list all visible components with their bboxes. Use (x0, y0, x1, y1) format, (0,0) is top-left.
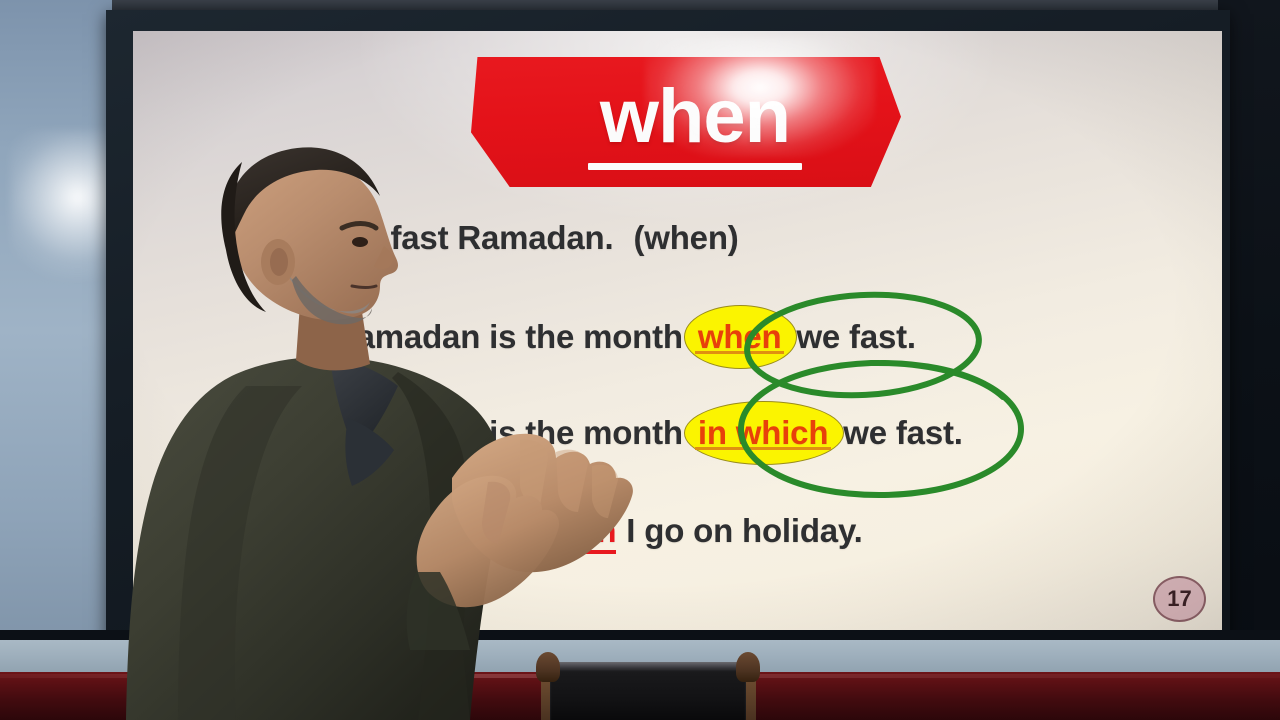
chair-finial-left (536, 652, 560, 682)
slide-line-3: Ramadan is the monthin whichwe fast. (333, 414, 963, 452)
line-4-after: I go on holiday. (626, 512, 862, 549)
line-4-keyword: when (533, 512, 617, 554)
screenshot-stage: when We fast Ramadan.(when) Ramadan is t… (0, 0, 1280, 720)
highlight-when: when (684, 318, 796, 356)
slide-title: when (600, 80, 790, 154)
line-2-before: Ramadan is the month (333, 318, 683, 355)
line-1-text: We fast Ramadan. (333, 219, 613, 256)
line-3-before: Ramadan is the month (333, 414, 683, 451)
line-1-cue: (when) (633, 219, 738, 256)
slide-line-4: It is the timewhenI go on holiday. (333, 512, 863, 550)
left-wall (0, 0, 112, 690)
wooden-chair (528, 650, 768, 720)
chair-back (550, 668, 746, 720)
line-3-highlight-text: in which (698, 414, 828, 451)
line-2-after: we fast. (796, 318, 915, 355)
slide-line-2: Ramadan is the monthwhenwe fast. (333, 318, 916, 356)
line-4-before: It is the time (333, 512, 523, 549)
highlight-underline (695, 447, 831, 450)
highlight-underline (695, 351, 785, 354)
slide-title-banner: when (471, 57, 901, 187)
projection-screen: when We fast Ramadan.(when) Ramadan is t… (133, 31, 1222, 630)
chair-finial-right (736, 652, 760, 682)
slide: when We fast Ramadan.(when) Ramadan is t… (133, 31, 1222, 630)
line-3-after: we fast. (843, 414, 962, 451)
page-number-badge: 17 (1153, 576, 1206, 622)
highlight-in-which: in which (684, 414, 842, 452)
slide-line-1: We fast Ramadan.(when) (333, 219, 739, 257)
line-2-highlight-text: when (698, 318, 782, 355)
slide-title-underline (588, 163, 802, 170)
